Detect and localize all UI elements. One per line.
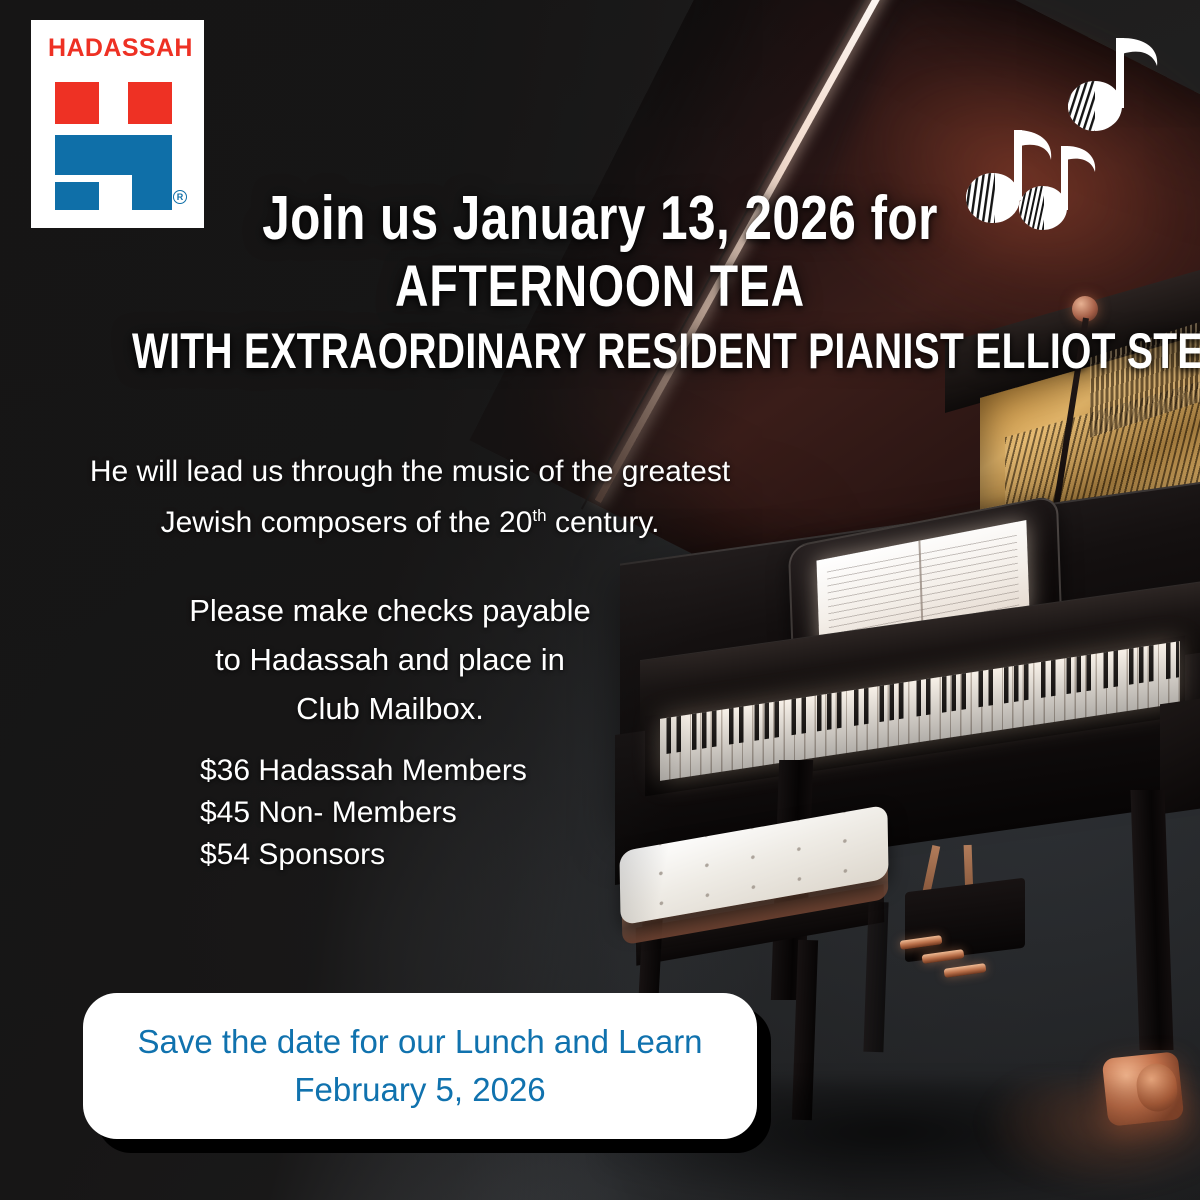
headline-block: Join us January 13, 2026 for AFTERNOON T… [0,186,1200,378]
price-row-members: $36 Hadassah Members [200,750,720,792]
save-the-date-callout[interactable]: Save the date for our Lunch and Learn Fe… [83,993,757,1139]
callout-line-1: Save the date for our Lunch and Learn [137,1018,702,1066]
logo-red-square-right [128,82,172,124]
payment-instructions: Please make checks payable to Hadassah a… [110,586,670,733]
eighth-note-icon [1063,34,1163,138]
lead-ordinal-suffix: th [532,506,546,525]
payment-line-3: Club Mailbox. [296,691,484,726]
payment-line-1: Please make checks payable [189,593,591,628]
piano-key-cheek [1160,696,1200,814]
price-list: $36 Hadassah Members $45 Non- Members $5… [200,750,720,876]
callout-line-2: February 5, 2026 [294,1066,545,1114]
flyer-canvas: HADASSAH R [0,0,1200,1200]
piano-leg-right [1130,790,1173,1050]
price-row-non-members: $45 Non- Members [200,792,720,834]
piano-pedal [944,963,987,978]
pedal-lyre [905,878,1025,963]
logo-wordmark: HADASSAH [48,34,193,63]
headline-line-3: WITH EXTRAORDINARY RESIDENT PIANIST ELLI… [132,324,1068,378]
lead-text-part2: century. [547,506,660,539]
bench-leg [863,902,888,1053]
lead-paragraph: He will lead us through the music of the… [60,450,760,545]
floor-warm-reflection [980,1080,1200,1190]
headline-line-2: AFTERNOON TEA [120,256,1080,318]
price-row-sponsors: $54 Sponsors [200,834,720,876]
payment-line-2: to Hadassah and place in [215,642,565,677]
headline-line-1: Join us January 13, 2026 for [120,186,1080,252]
logo-red-square-left [55,82,99,124]
